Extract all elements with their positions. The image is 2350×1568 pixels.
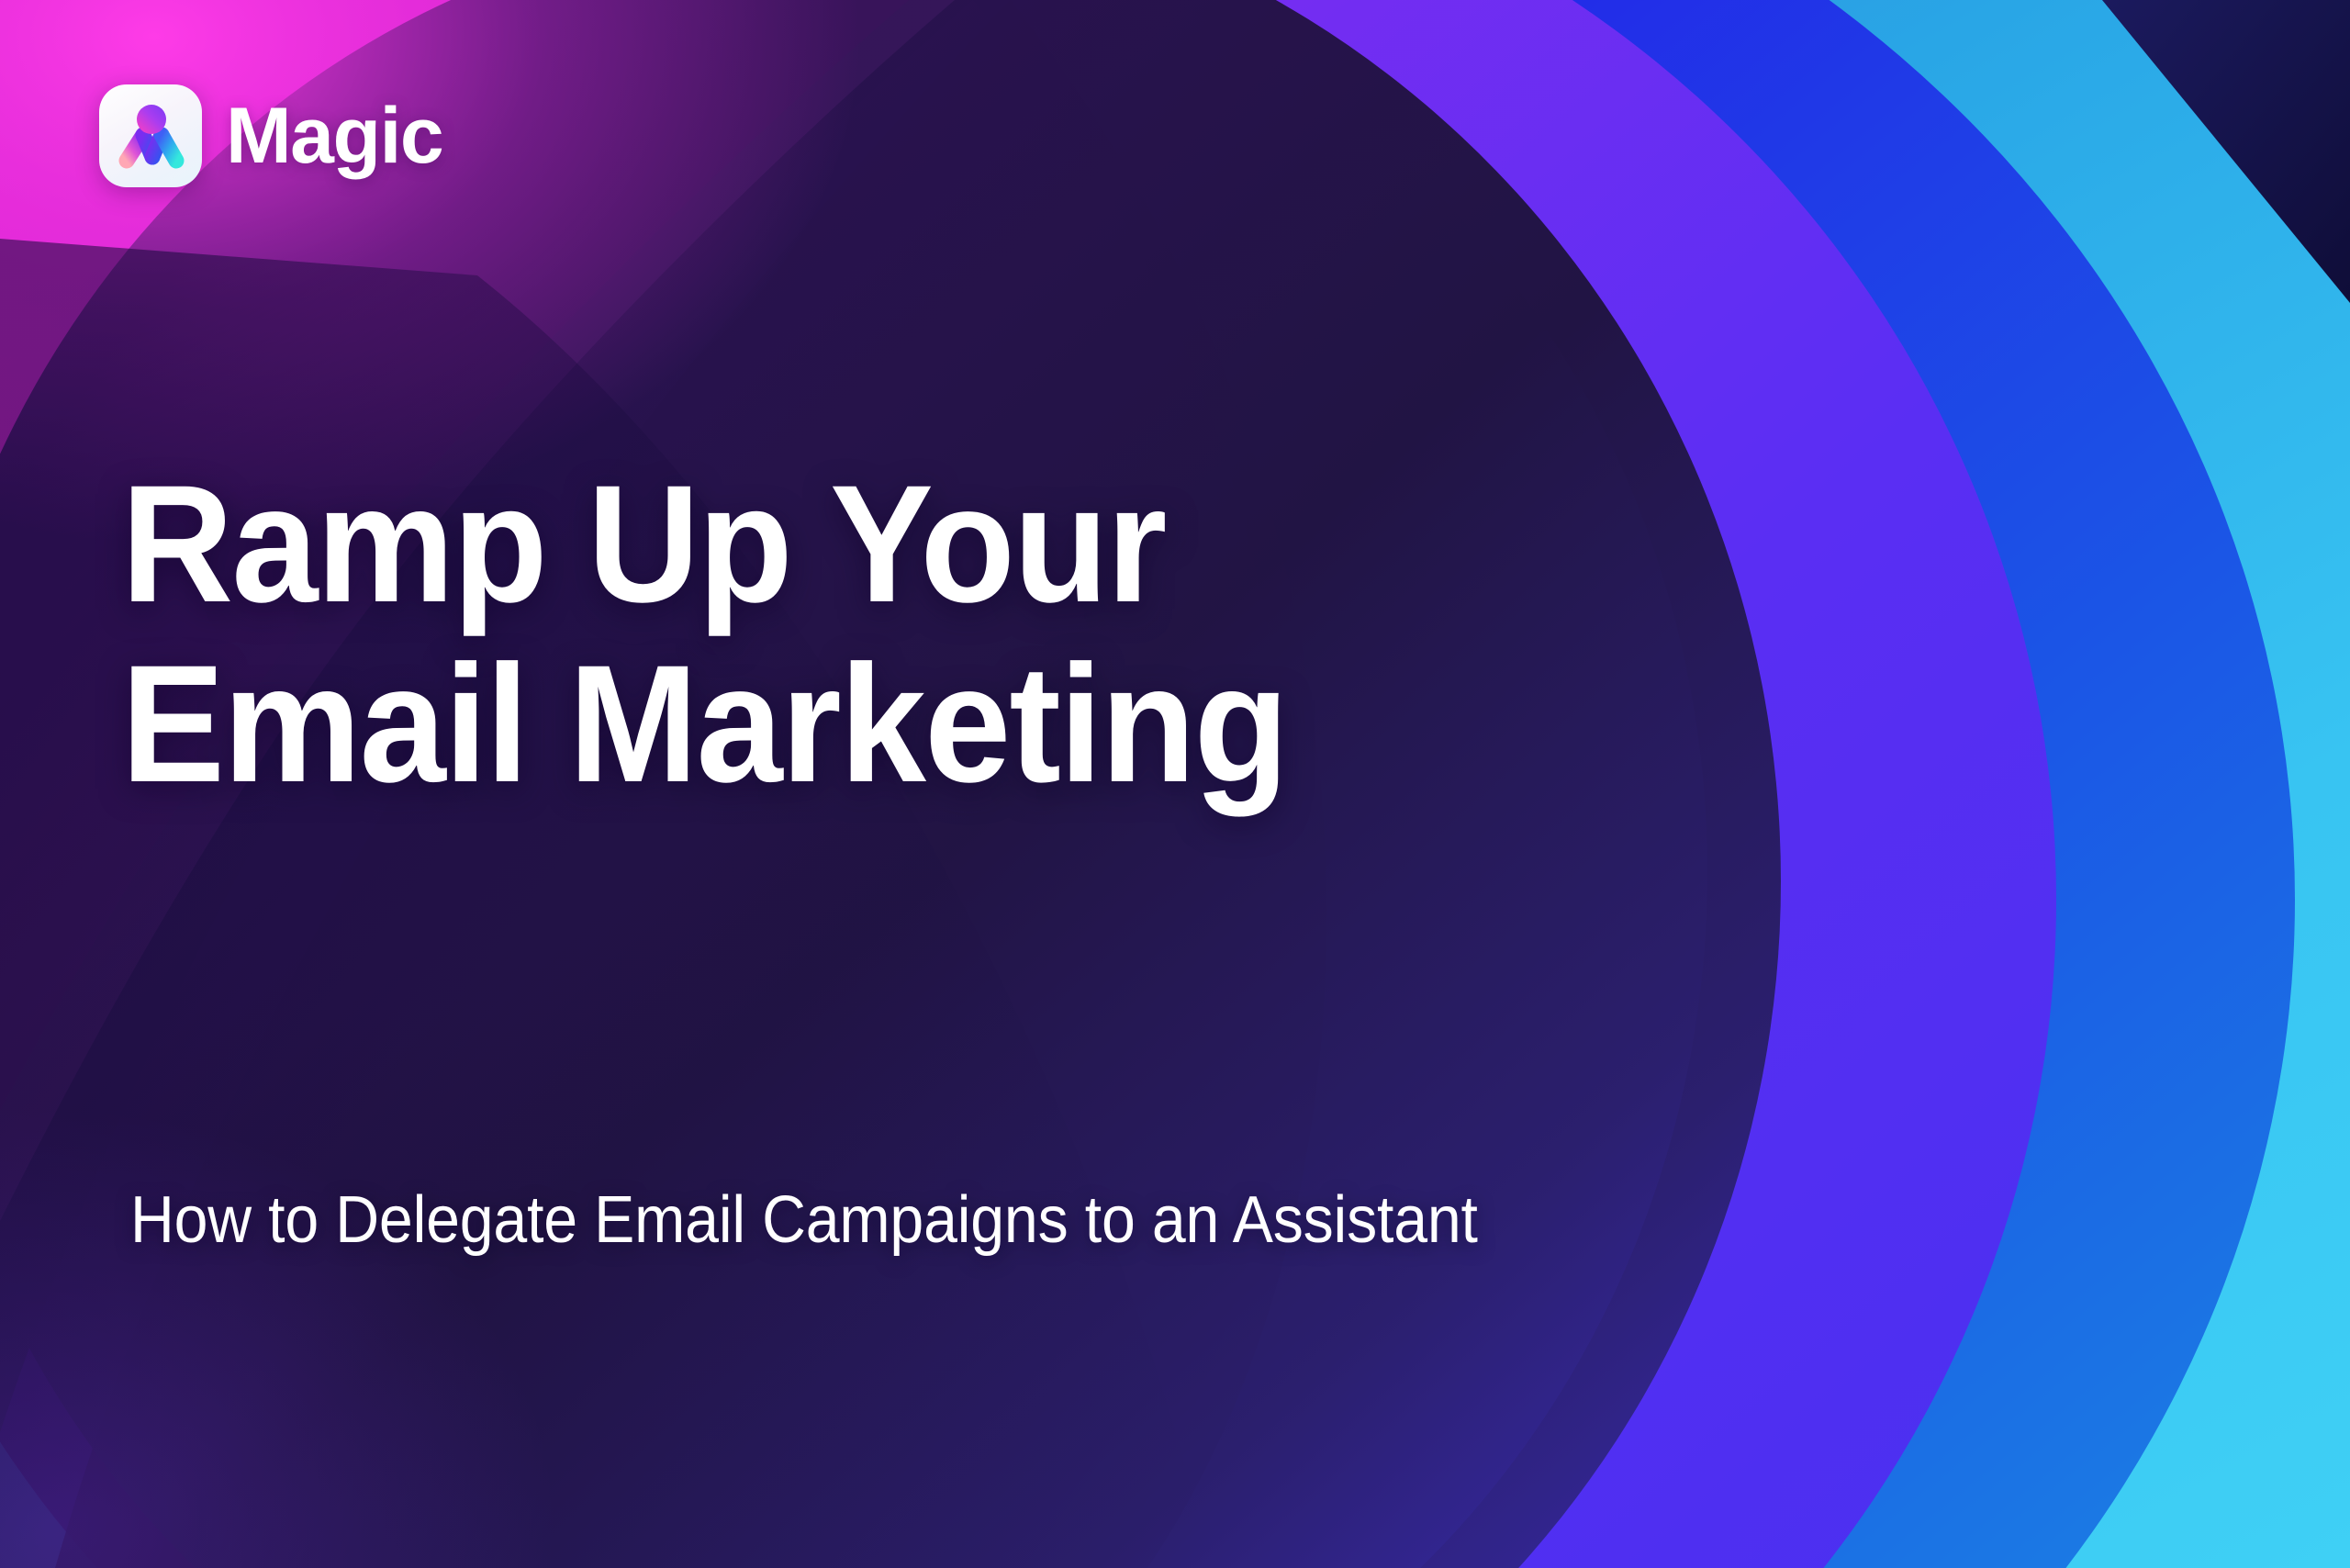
brand-name: Magic	[226, 96, 442, 175]
page-subtitle: How to Delegate Email Campaigns to an As…	[130, 1184, 1478, 1257]
headline-line-2: Email Marketing	[121, 639, 1743, 810]
promo-banner: Magic Ramp Up Your Email Marketing How t…	[0, 0, 2350, 1568]
magic-logo-icon	[99, 84, 202, 187]
brand-lockup: Magic	[99, 84, 442, 187]
headline-line-1: Ramp Up Your	[121, 459, 1743, 630]
page-title: Ramp Up Your Email Marketing	[121, 459, 1865, 809]
